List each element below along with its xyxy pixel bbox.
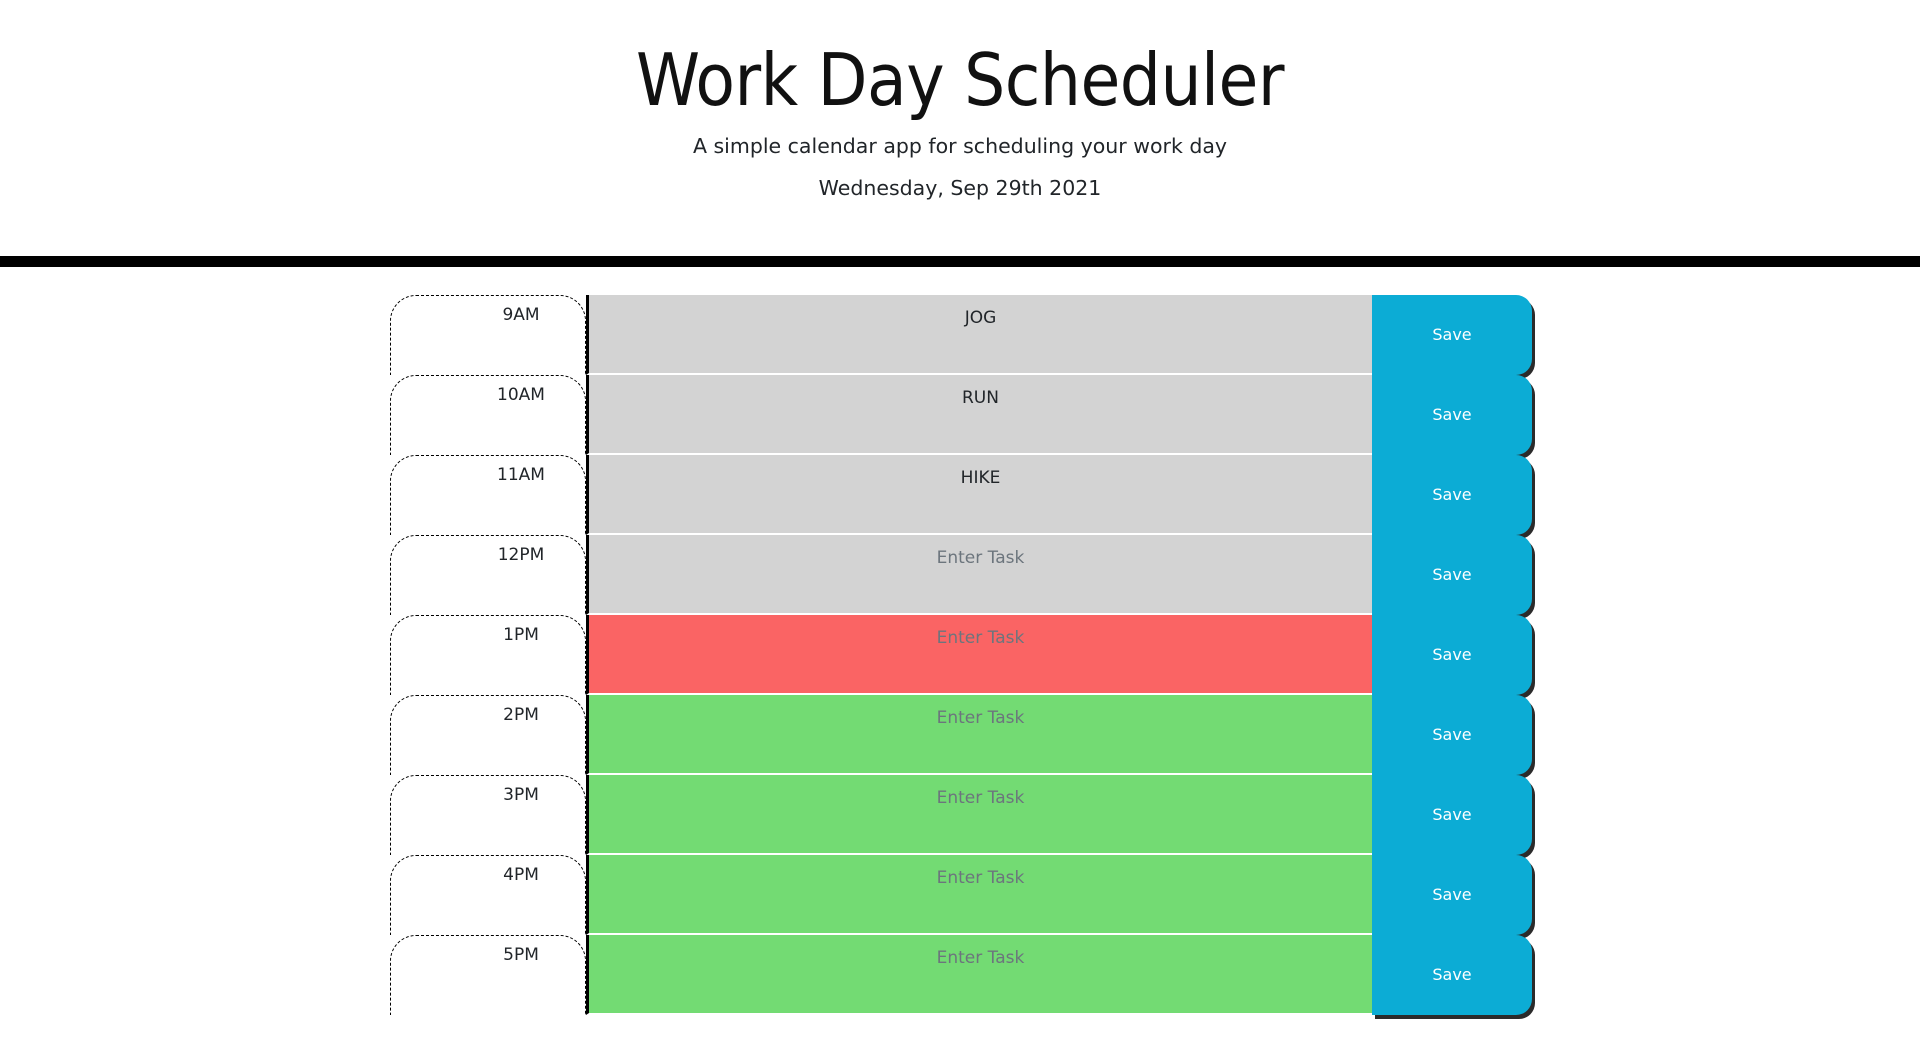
save-button[interactable]: Save (1372, 455, 1532, 535)
time-block: 2PMEnter TaskSave (390, 695, 1532, 775)
time-block: 1PMEnter TaskSave (390, 615, 1532, 695)
hour-label: 4PM (390, 855, 586, 935)
task-input[interactable]: Enter Task (586, 535, 1372, 615)
time-block: 4PMEnter TaskSave (390, 855, 1532, 935)
hour-label: 5PM (390, 935, 586, 1015)
task-input[interactable]: Enter Task (586, 775, 1372, 855)
save-button[interactable]: Save (1372, 295, 1532, 375)
time-block: 11AMHIKESave (390, 455, 1532, 535)
save-button[interactable]: Save (1372, 935, 1532, 1015)
page-title: Work Day Scheduler (0, 42, 1920, 120)
hour-label: 3PM (390, 775, 586, 855)
task-input[interactable]: HIKE (586, 455, 1372, 535)
task-input[interactable]: JOG (586, 295, 1372, 375)
page-subtitle: A simple calendar app for scheduling you… (0, 134, 1920, 158)
hour-label: 1PM (390, 615, 586, 695)
page-header: Work Day Scheduler A simple calendar app… (0, 0, 1920, 200)
save-button[interactable]: Save (1372, 855, 1532, 935)
task-input[interactable]: RUN (586, 375, 1372, 455)
hour-label: 9AM (390, 295, 586, 375)
task-input[interactable]: Enter Task (586, 695, 1372, 775)
hour-label: 11AM (390, 455, 586, 535)
save-button[interactable]: Save (1372, 615, 1532, 695)
header-divider (0, 256, 1920, 267)
save-button[interactable]: Save (1372, 695, 1532, 775)
time-block: 12PMEnter TaskSave (390, 535, 1532, 615)
task-input[interactable]: Enter Task (586, 615, 1372, 695)
hour-label: 12PM (390, 535, 586, 615)
schedule-container: 9AMJOGSave10AMRUNSave11AMHIKESave12PMEnt… (0, 267, 1920, 1015)
time-block: 3PMEnter TaskSave (390, 775, 1532, 855)
time-block: 10AMRUNSave (390, 375, 1532, 455)
time-block: 5PMEnter TaskSave (390, 935, 1532, 1015)
hour-label: 10AM (390, 375, 586, 455)
hour-label: 2PM (390, 695, 586, 775)
task-input[interactable]: Enter Task (586, 935, 1372, 1015)
save-button[interactable]: Save (1372, 775, 1532, 855)
save-button[interactable]: Save (1372, 375, 1532, 455)
current-date: Wednesday, Sep 29th 2021 (0, 176, 1920, 200)
task-input[interactable]: Enter Task (586, 855, 1372, 935)
save-button[interactable]: Save (1372, 535, 1532, 615)
time-block: 9AMJOGSave (390, 295, 1532, 375)
